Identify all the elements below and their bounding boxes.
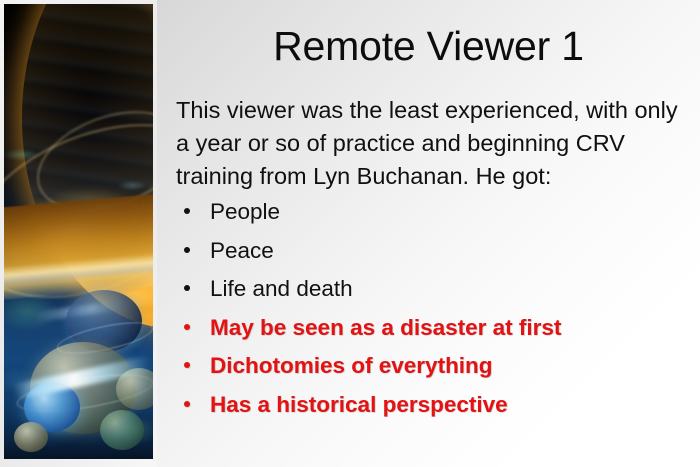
list-item: Dichotomies of everything — [176, 351, 686, 390]
planet-bottom-left — [14, 422, 48, 452]
bullet-dot-icon — [184, 208, 190, 214]
slide-title: Remote Viewer 1 — [157, 24, 700, 69]
list-item-label: People — [210, 199, 280, 224]
bullet-dot-icon — [184, 401, 190, 407]
list-item-label: Dichotomies of everything — [210, 353, 493, 378]
bullet-dot-icon — [184, 362, 190, 368]
space-planets-image — [4, 4, 153, 459]
list-item: Peace — [176, 236, 686, 275]
list-item-label: Peace — [210, 238, 274, 263]
bullet-list: People Peace Life and death May be seen … — [176, 197, 686, 428]
planet-green-bottom — [100, 410, 144, 450]
list-item-label: May be seen as a disaster at first — [210, 315, 561, 340]
list-item-label: Has a historical perspective — [210, 392, 508, 417]
list-item: May be seen as a disaster at first — [176, 313, 686, 352]
slide-content: Remote Viewer 1 This viewer was the leas… — [157, 0, 700, 467]
list-item-label: Life and death — [210, 276, 353, 301]
list-item: Has a historical perspective — [176, 390, 686, 429]
bullet-dot-icon — [184, 324, 190, 330]
bullet-dot-icon — [184, 285, 190, 291]
slide-paragraph: This viewer was the least experienced, w… — [176, 94, 682, 193]
artwork-frame — [0, 0, 157, 467]
slide: Remote Viewer 1 This viewer was the leas… — [0, 0, 700, 467]
list-item: Life and death — [176, 274, 686, 313]
bullet-dot-icon — [184, 247, 190, 253]
list-item: People — [176, 197, 686, 236]
